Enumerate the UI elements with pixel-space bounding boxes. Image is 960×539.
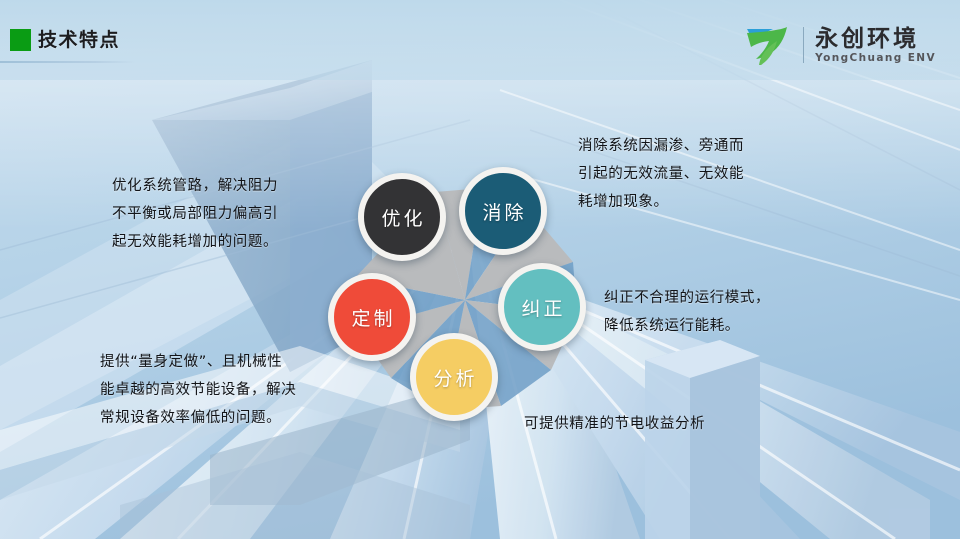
bubble-jiuzheng[interactable]: 纠正: [498, 263, 586, 351]
caption-dingzhi: 提供“量身定做”、且机械性 能卓越的高效节能设备，解决 常规设备效率偏低的问题。: [100, 348, 348, 432]
logo-name-cn: 永创环境: [815, 26, 936, 52]
slide-header: 技术特点 永创环境 YongChuang ENV: [0, 0, 960, 78]
bubble-xiaochu[interactable]: 消除: [459, 167, 547, 255]
logo-name-en: YongChuang ENV: [815, 52, 936, 65]
bubble-label-youhua: 优化: [378, 204, 425, 231]
caption-jiuzheng: 纠正不合理的运行模式， 降低系统运行能耗。: [604, 284, 820, 340]
logo-leaf-icon: [743, 23, 795, 67]
bubble-label-jiuzheng: 纠正: [518, 294, 565, 321]
bubble-label-xiaochu: 消除: [479, 198, 526, 225]
pinwheel-diagram: 优化 消除 定制 纠正 分析: [310, 155, 620, 445]
caption-fenxi: 可提供精准的节电收益分析: [524, 410, 824, 438]
caption-xiaochu: 消除系统因漏渗、旁通而 引起的无效流量、无效能 耗增加现象。: [578, 132, 794, 216]
logo-text-block: 永创环境 YongChuang ENV: [815, 26, 936, 65]
company-logo: 永创环境 YongChuang ENV: [743, 22, 936, 68]
page-title: 技术特点: [38, 27, 120, 53]
logo-divider: [803, 27, 804, 63]
bubble-label-fenxi: 分析: [430, 364, 477, 391]
caption-youhua: 优化系统管路，解决阻力 不平衡或局部阻力偏高引 起无效能耗增加的问题。: [112, 172, 348, 256]
bubble-label-dingzhi: 定制: [348, 304, 395, 331]
bubble-fenxi[interactable]: 分析: [410, 333, 498, 421]
title-underline: [0, 61, 135, 63]
bubble-youhua[interactable]: 优化: [358, 173, 446, 261]
title-accent-square: [10, 29, 31, 51]
